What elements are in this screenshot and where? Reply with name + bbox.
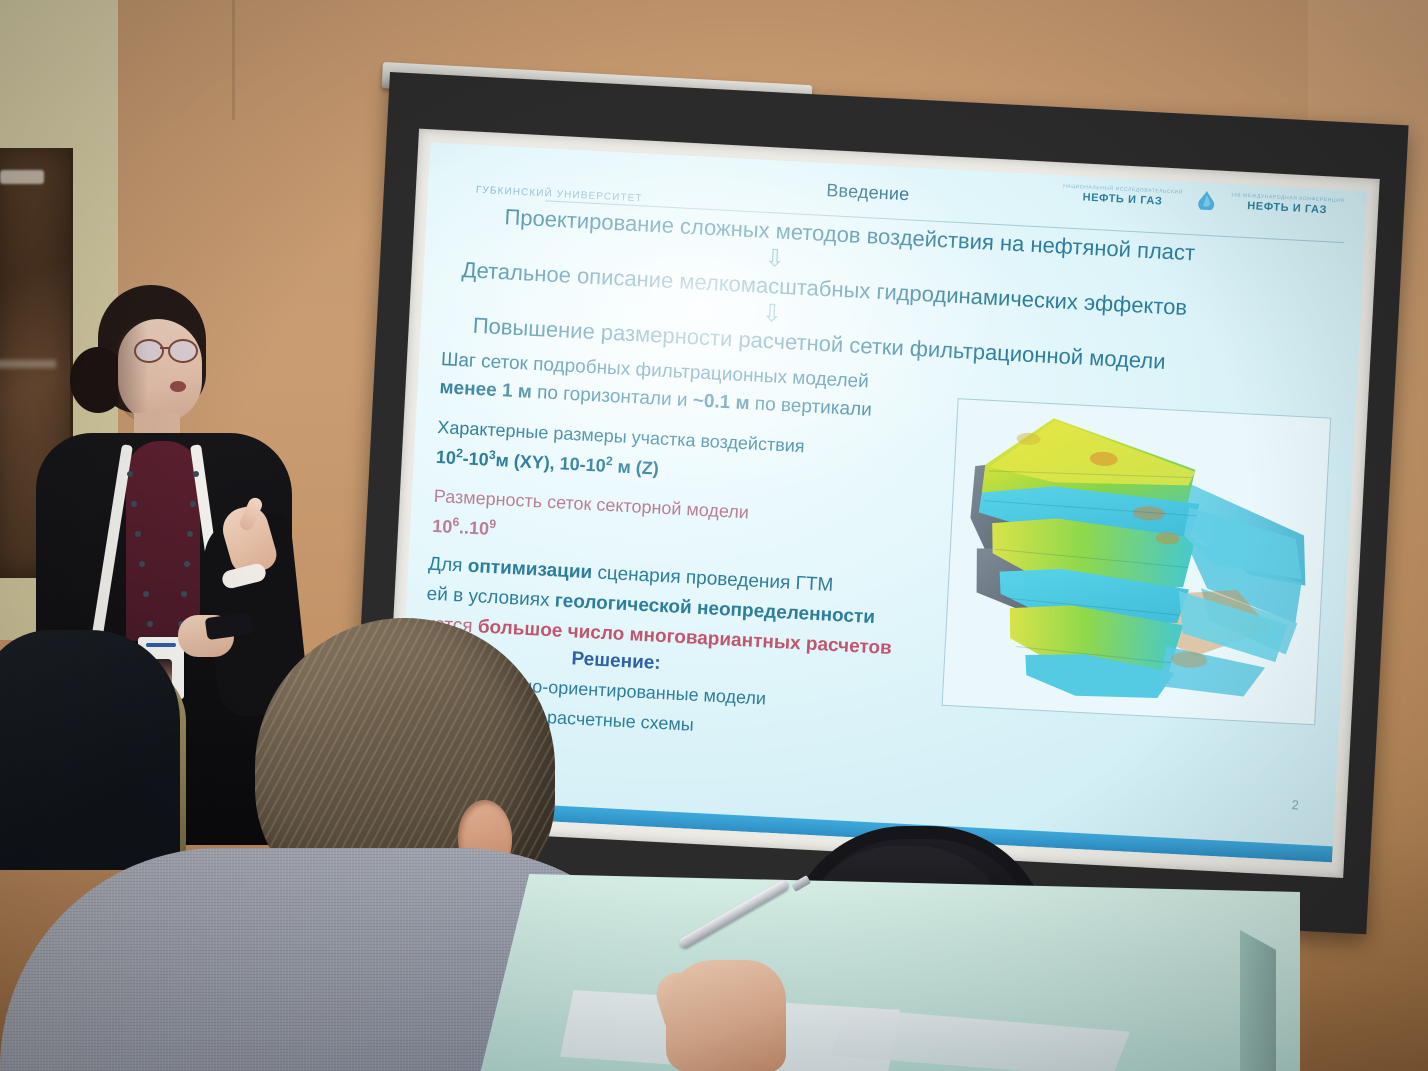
body-line-7-a: Для bbox=[428, 554, 469, 577]
body-line-6-a: 10 bbox=[432, 516, 453, 537]
flow-arrow-2-icon: ⇩ bbox=[761, 299, 783, 329]
logo-right: 168 МЕЖДУНАРОДНАЯ КОНФЕРЕНЦИЯ НЕФТЬ И ГА… bbox=[1230, 193, 1345, 217]
body-line-2-d: по вертикали bbox=[749, 393, 872, 420]
body-line-2-c: ~0.1 м bbox=[692, 390, 750, 414]
slide-logos: НАЦИОНАЛЬНЫЙ ИССЛЕДОВАТЕЛЬСКИЙ НЕФТЬ И Г… bbox=[1062, 183, 1344, 217]
reservoir-model-figure bbox=[942, 398, 1332, 725]
table-edge bbox=[1240, 930, 1276, 1071]
body-line-4-d: м (Z) bbox=[612, 456, 659, 478]
body-line-7-c: сценария проведения ГТМ bbox=[592, 562, 834, 596]
slide-number: 2 bbox=[1291, 797, 1299, 812]
flow-arrow-1-icon: ⇩ bbox=[764, 244, 786, 274]
logo-left-main: НЕФТЬ И ГАЗ bbox=[1082, 192, 1162, 207]
flow-line-1: Проектирование сложных методов воздейств… bbox=[504, 204, 1196, 266]
body-line-2-b: по горизонтали и bbox=[531, 382, 693, 411]
body-line-4-c: м (XY), 10-10 bbox=[495, 450, 606, 476]
oil-drop-icon bbox=[1198, 191, 1215, 211]
scene-photo: Введение ГУБКИНСКИЙ УНИВЕРСИТЕТ НАЦИОНАЛ… bbox=[0, 0, 1428, 1071]
slide-title: Введение bbox=[826, 180, 910, 205]
body-line-6-sup2: 9 bbox=[489, 517, 497, 531]
logo-left: НАЦИОНАЛЬНЫЙ ИССЛЕДОВАТЕЛЬСКИЙ НЕФТЬ И Г… bbox=[1062, 184, 1183, 208]
body-line-7-b: оптимизации bbox=[467, 556, 593, 583]
body-line-6: 106..109 bbox=[432, 514, 497, 540]
body-line-6-b: ..10 bbox=[459, 517, 490, 539]
attendee-writing-hand bbox=[666, 960, 786, 1071]
body-line-2-a: менее 1 м bbox=[439, 377, 532, 403]
reservoir-model-image bbox=[943, 399, 1331, 724]
body-line-4-b: -10 bbox=[462, 448, 489, 469]
flow-line-2: Детальное описание мелкомасштабных гидро… bbox=[461, 257, 1188, 321]
body-line-4-a: 10 bbox=[435, 447, 456, 468]
wall-seam bbox=[232, 0, 235, 120]
body-line-4: 102-103м (XY), 10-102 м (Z) bbox=[435, 445, 659, 480]
logo-right-main: НЕФТЬ И ГАЗ bbox=[1247, 201, 1327, 216]
